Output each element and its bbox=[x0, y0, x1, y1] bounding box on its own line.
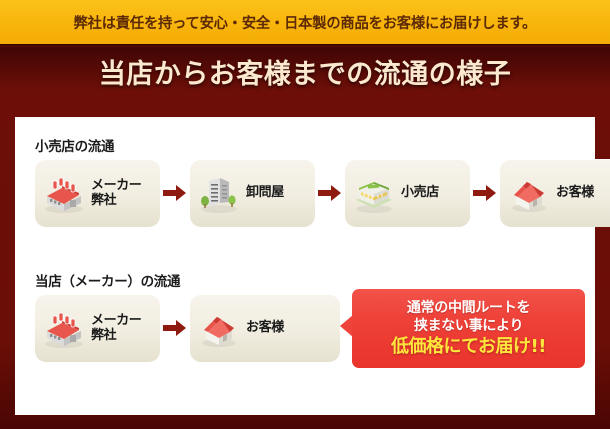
maker-label-line2: 弊社 bbox=[91, 193, 141, 208]
shop-awning-icon bbox=[351, 170, 397, 216]
maroon-top-edge bbox=[0, 44, 610, 47]
flow-step-maker-direct-label: メーカー 弊社 bbox=[91, 313, 141, 344]
factory-red-roof-icon bbox=[41, 305, 87, 351]
page-title: 当店からお客様までの流通の様子 bbox=[0, 52, 610, 91]
flow-row-retail: メーカー 弊社 bbox=[35, 159, 610, 227]
arrow-right-icon-2 bbox=[315, 173, 345, 213]
maker-direct-label-line1: メーカー bbox=[91, 313, 141, 328]
arrow-right-icon-4 bbox=[160, 308, 190, 348]
flow-step-wholesaler-label: 卸問屋 bbox=[246, 185, 284, 200]
arrow-right-icon-1 bbox=[160, 173, 190, 213]
flow-step-retailshop-label: 小売店 bbox=[401, 185, 439, 200]
arrow-right-icon-3 bbox=[470, 173, 500, 213]
factory-red-roof-icon bbox=[41, 170, 87, 216]
flow-step-maker[interactable]: メーカー 弊社 bbox=[35, 159, 160, 227]
callout-line-2: 挟まない事により bbox=[414, 317, 523, 335]
flow-row-direct: メーカー 弊社 bbox=[35, 294, 340, 362]
office-building-icon bbox=[196, 170, 242, 216]
flow-step-customer-direct-label: お客様 bbox=[246, 320, 284, 335]
top-banner-text: 弊社は責任を持って安心・安全・日本製の商品をお客様にお届けします。 bbox=[74, 12, 537, 33]
flow-step-maker-direct[interactable]: メーカー 弊社 bbox=[35, 294, 160, 362]
flow-step-customer[interactable]: お客様 bbox=[500, 159, 610, 227]
flow-step-customer-label: お客様 bbox=[556, 185, 594, 200]
flow-step-maker-label: メーカー 弊社 bbox=[91, 178, 141, 209]
callout-line-1: 通常の中間ルートを bbox=[407, 299, 530, 317]
maker-label-line1: メーカー bbox=[91, 178, 141, 193]
maker-direct-label-line2: 弊社 bbox=[91, 328, 141, 343]
house-red-roof-icon bbox=[506, 170, 552, 216]
flow-step-customer-direct[interactable]: お客様 bbox=[190, 294, 340, 362]
flow-step-retailshop[interactable]: 小売店 bbox=[345, 159, 470, 227]
top-gold-banner: 弊社は責任を持って安心・安全・日本製の商品をお客様にお届けします。 bbox=[0, 0, 610, 44]
flow-step-wholesaler[interactable]: 卸問屋 bbox=[190, 159, 315, 227]
section-heading-direct: 当店（メーカー）の流通 bbox=[35, 270, 180, 290]
price-callout: 通常の中間ルートを 挟まない事により 低価格にてお届け!! bbox=[352, 289, 585, 368]
house-red-roof-icon bbox=[196, 305, 242, 351]
section-heading-retail: 小売店の流通 bbox=[35, 135, 114, 155]
callout-line-3-highlight: 低価格にてお届け!! bbox=[391, 336, 546, 359]
infographic-root: 弊社は責任を持って安心・安全・日本製の商品をお客様にお届けします。 当店からお客… bbox=[0, 0, 610, 429]
content-panel: 小売店の流通 bbox=[15, 117, 595, 415]
